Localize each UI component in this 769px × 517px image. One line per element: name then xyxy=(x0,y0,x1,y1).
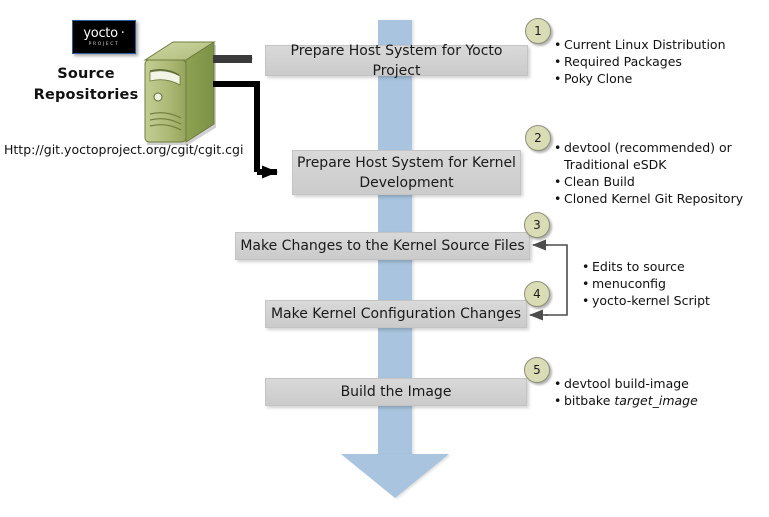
flow-arrowhead-icon xyxy=(341,454,449,498)
list-item: Edits to source xyxy=(580,258,760,275)
loop-bracket xyxy=(545,245,567,315)
workflow-diagram: yocto · PROJECT Source Repositories Http… xyxy=(0,0,769,517)
yocto-logo-subtitle: PROJECT xyxy=(89,41,120,48)
process-box-step-1[interactable]: Prepare Host System for Yocto Project xyxy=(265,45,528,76)
yocto-logo-word: yocto xyxy=(83,27,117,40)
source-repositories-label: Source Repositories xyxy=(26,64,146,106)
list-item: yocto-kernel Script xyxy=(580,292,760,309)
bitbake-prefix: bitbake xyxy=(564,393,614,408)
bullet-list-loop: Edits to source menuconfig yocto-kernel … xyxy=(580,258,760,309)
yocto-project-logo: yocto · PROJECT xyxy=(72,20,136,54)
bullet-list-step-2: devtool (recommended) or Traditional eSD… xyxy=(552,139,752,207)
list-item: Clean Build xyxy=(552,173,752,190)
step-number-5: 5 xyxy=(524,357,550,383)
source-repositories-label-line1: Source xyxy=(26,64,146,85)
bullet-list-step-1: Current Linux Distribution Required Pack… xyxy=(552,36,762,87)
list-item: devtool build-image xyxy=(552,375,752,392)
step-number-4: 4 xyxy=(524,281,550,307)
yocto-logo-dot: · xyxy=(121,27,125,40)
server-tower-icon xyxy=(136,38,216,146)
step-number-1: 1 xyxy=(525,18,551,44)
list-item: menuconfig xyxy=(580,275,760,292)
source-repositories-label-line2: Repositories xyxy=(26,85,146,106)
list-item: Required Packages xyxy=(552,53,762,70)
list-item: devtool (recommended) or Traditional eSD… xyxy=(552,139,752,173)
arrow-server-to-step2-path xyxy=(213,84,257,172)
list-item: Current Linux Distribution xyxy=(552,36,762,53)
list-item: Poky Clone xyxy=(552,70,762,87)
process-box-step-5[interactable]: Build the Image xyxy=(265,378,527,406)
step-number-3: 3 xyxy=(524,212,550,238)
process-box-step-2[interactable]: Prepare Host System for Kernel Developme… xyxy=(292,150,521,195)
bitbake-target-image: target_image xyxy=(614,393,697,408)
process-box-step-4[interactable]: Make Kernel Configuration Changes xyxy=(265,300,527,328)
process-box-step-3[interactable]: Make Changes to the Kernel Source Files xyxy=(235,232,530,260)
bullet-list-step-5: devtool build-image bitbake target_image xyxy=(552,375,752,409)
step-number-2: 2 xyxy=(525,125,551,151)
list-item: bitbake target_image xyxy=(552,392,752,409)
list-item: Cloned Kernel Git Repository xyxy=(552,190,752,207)
